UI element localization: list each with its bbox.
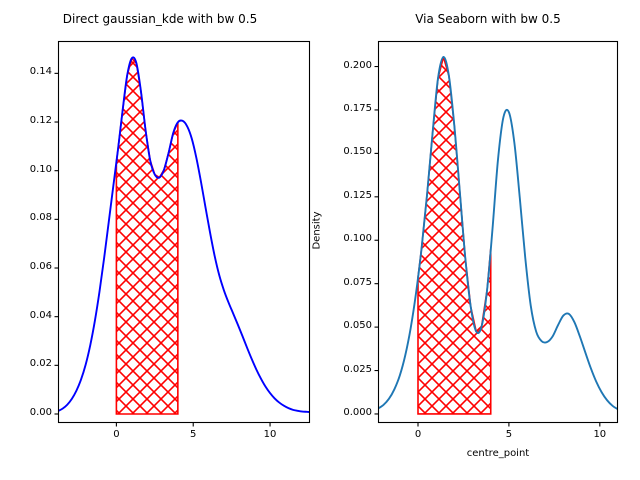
right-xaxis-label: centre_point [438, 448, 558, 459]
right-ytick-label: 0.025 [318, 364, 372, 375]
left-ytick-label: 0.12 [0, 115, 52, 126]
left-ytick-label: 0.00 [0, 407, 52, 418]
right-ytick-label: 0.200 [318, 60, 372, 71]
right-ytick-label: 0.150 [318, 146, 372, 157]
right-xtick-label: 0 [398, 429, 438, 440]
right-ytick-label: 0.175 [318, 103, 372, 114]
right-xtick-label: 5 [489, 429, 529, 440]
left-ytick-label: 0.04 [0, 310, 52, 321]
left-ytick-label: 0.10 [0, 164, 52, 175]
left-ytick-label: 0.08 [0, 212, 52, 223]
right-yaxis-label: Density [312, 171, 323, 291]
left-xtick-label: 10 [250, 429, 290, 440]
right-ytick-label: 0.125 [318, 190, 372, 201]
left-ytick-label: 0.02 [0, 358, 52, 369]
subplot-right: Via Seaborn with bw 0.5 05100.0000.0250.… [320, 0, 640, 480]
right-ytick-label: 0.100 [318, 233, 372, 244]
subplot-left: Direct gaussian_kde with bw 0.5 05100.00… [0, 0, 320, 480]
left-ytick-label: 0.14 [0, 66, 52, 77]
right-ytick-label: 0.000 [318, 407, 372, 418]
left-xtick-label: 0 [96, 429, 136, 440]
figure-canvas: Direct gaussian_kde with bw 0.5 05100.00… [0, 0, 640, 480]
right-subplot-title: Via Seaborn with bw 0.5 [360, 12, 616, 26]
left-xtick-label: 5 [173, 429, 213, 440]
left-ytick-label: 0.06 [0, 261, 52, 272]
right-xtick-label: 10 [580, 429, 620, 440]
left-subplot-title: Direct gaussian_kde with bw 0.5 [24, 12, 296, 26]
right-ytick-label: 0.050 [318, 320, 372, 331]
right-ytick-label: 0.075 [318, 277, 372, 288]
